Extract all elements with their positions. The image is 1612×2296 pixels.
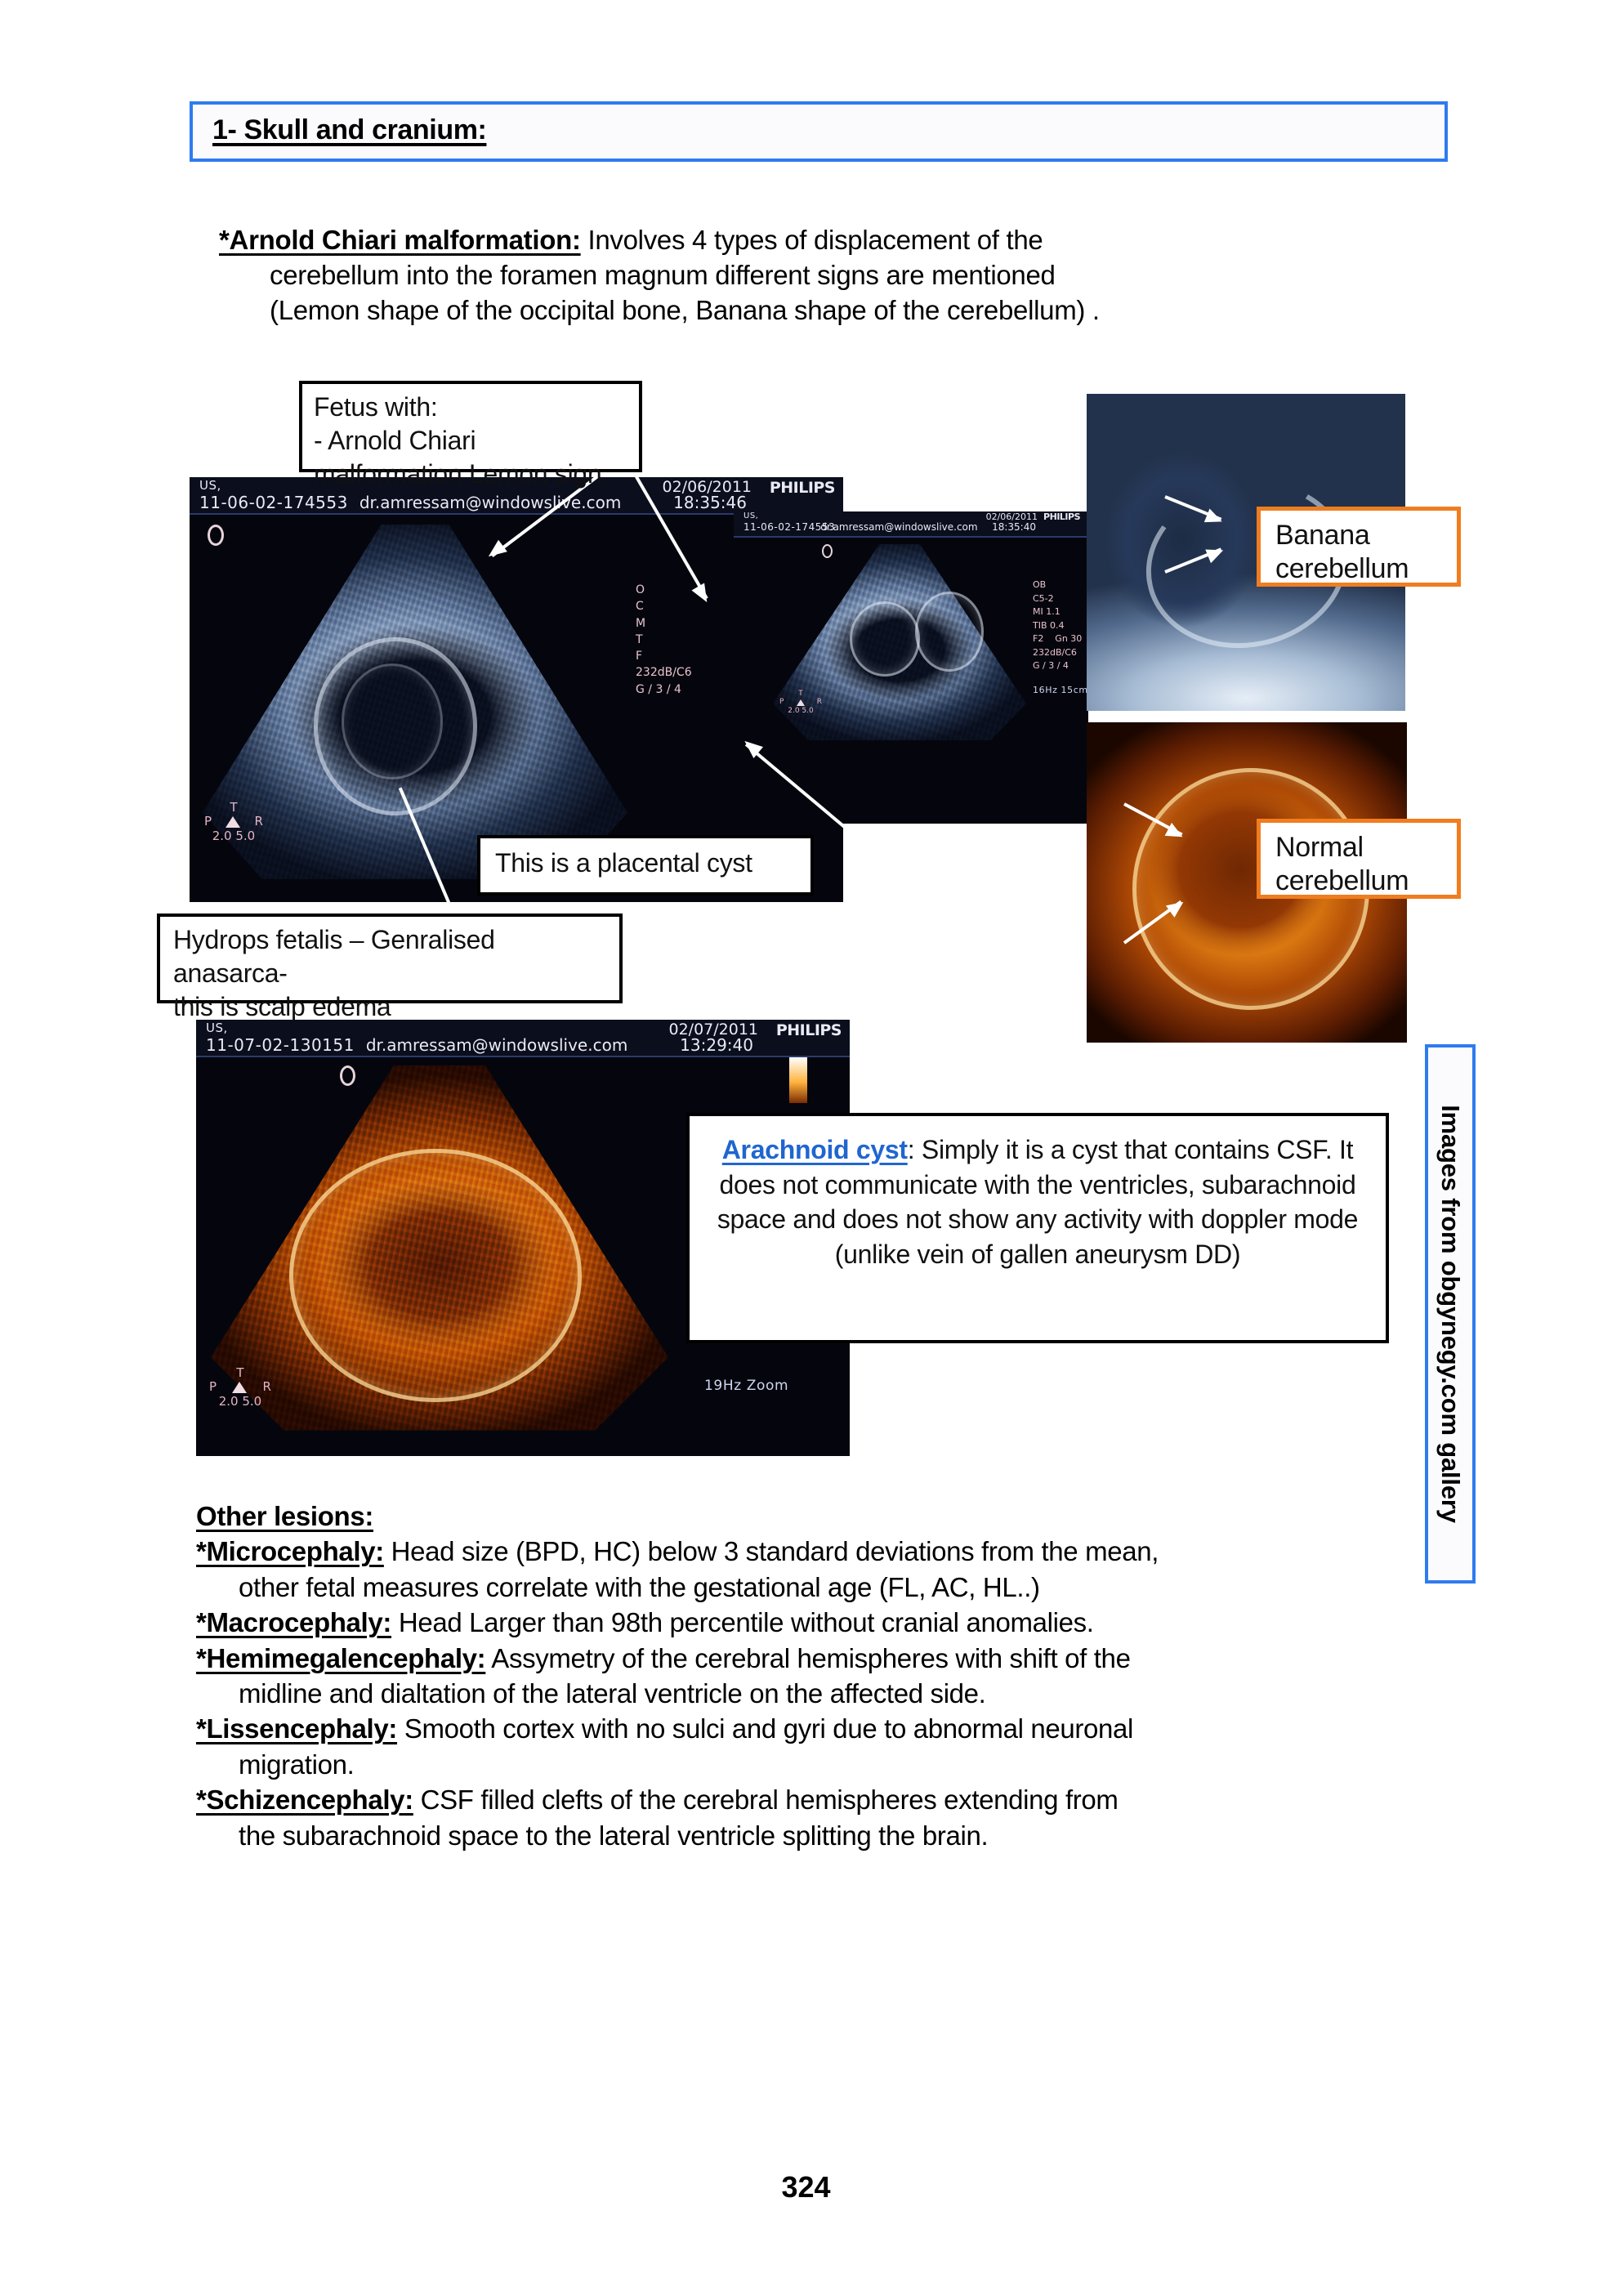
marker-top-label: T xyxy=(204,801,263,815)
inset-marker-values: 2.0 5.0 xyxy=(779,707,822,715)
source-credit-text: Images from obgynegy.com gallery xyxy=(1436,1105,1465,1523)
marker-right-label: R xyxy=(255,815,263,829)
colormap-bar xyxy=(789,1057,807,1103)
marker-triangle-icon xyxy=(226,816,240,828)
lesion-continuation: migration. xyxy=(196,1747,1356,1782)
ultrasound-main-side-panel: O C M T F 232dB/C6 G / 3 / 4 xyxy=(636,582,692,698)
page-title: 1- Skull and cranium: xyxy=(212,114,486,146)
ultrasound-inset-modality: US, xyxy=(743,511,758,520)
lesion-term: *Hemimegalencephaly: xyxy=(196,1643,485,1673)
inset-marker-left-label: P xyxy=(779,698,784,706)
ultrasound-lower-brand: PHILIPS xyxy=(776,1021,842,1039)
lower-orientation-dot xyxy=(340,1065,355,1086)
ultrasound-lower-footer: 19Hz Zoom xyxy=(704,1378,788,1394)
lesion-item: *Macrocephaly: Head Larger than 98th per… xyxy=(196,1605,1356,1640)
lesion-term: *Macrocephaly: xyxy=(196,1607,391,1637)
ultrasound-main-orientation-marker: T P R 2.0 5.0 xyxy=(204,801,263,843)
callout-hydrops-line2: this is scalp edema xyxy=(173,990,606,1024)
source-credit-box: Images from obgynegy.com gallery xyxy=(1425,1044,1476,1584)
ultrasound-main-time: 18:35:46 xyxy=(673,493,747,512)
lower-marker-triangle-icon xyxy=(232,1382,247,1393)
callout-fetus-line1: Fetus with: xyxy=(314,391,627,424)
marker-left-label: P xyxy=(204,815,212,829)
callout-fetus: Fetus with: - Arnold Chiari malformation… xyxy=(299,381,642,472)
other-lesions-heading: Other lesions: xyxy=(196,1499,1356,1534)
lower-marker-left-label: P xyxy=(209,1380,217,1394)
callout-normal-line2: cerebellum xyxy=(1275,864,1442,898)
ultrasound-lower-header: US, 11-07-02-130151 dr.amressam@windowsl… xyxy=(196,1020,850,1057)
lesion-continuation: the subarachnoid space to the lateral ve… xyxy=(196,1818,1356,1853)
orientation-marker-dot xyxy=(208,525,224,546)
ultrasound-lower-orientation-marker: T P R 2.0 5.0 xyxy=(209,1366,271,1409)
intro-term: *Arnold Chiari malformation: xyxy=(219,225,581,255)
lesion-term: *Microcephaly: xyxy=(196,1536,384,1566)
callout-hydrops-fetalis: Hydrops fetalis – Genralised anasarca- t… xyxy=(157,913,623,1003)
inset-orientation-dot xyxy=(822,544,833,558)
inset-structure-outline-a xyxy=(850,601,920,677)
callout-banana-line1: Banana xyxy=(1275,519,1442,552)
ultrasound-lower-modality: US, xyxy=(206,1021,228,1035)
ultrasound-inset-header: US, 11-06-02-174553 dr.amressam@windowsl… xyxy=(734,511,1088,538)
callout-banana-cerebellum: Banana cerebellum xyxy=(1257,507,1461,587)
ultrasound-inset-email: dr.amressam@windowslive.com xyxy=(820,521,977,533)
ultrasound-inset-footer: 16Hz 15cm xyxy=(1033,685,1088,695)
ultrasound-lower-email: dr.amressam@windowslive.com xyxy=(366,1035,627,1055)
callout-arachnoid-cyst: Arachnoid cyst: Simply it is a cyst that… xyxy=(686,1113,1389,1343)
lesion-item: *Hemimegalencephaly: Assymetry of the ce… xyxy=(196,1641,1356,1712)
callout-normal-line1: Normal xyxy=(1275,831,1442,864)
marker-values: 2.0 5.0 xyxy=(204,829,263,843)
intro-paragraph: *Arnold Chiari malformation: Involves 4 … xyxy=(219,222,1265,328)
lesion-continuation: other fetal measures correlate with the … xyxy=(196,1570,1356,1605)
ultrasound-inset-brand: PHILIPS xyxy=(1043,511,1080,522)
intro-line1: Involves 4 types of displacement of the xyxy=(581,225,1043,255)
arachnoid-term: Arachnoid cyst xyxy=(722,1135,908,1164)
intro-line3: (Lemon shape of the occipital bone, Bana… xyxy=(219,293,1265,328)
lesion-item: *Microcephaly: Head size (BPD, HC) below… xyxy=(196,1534,1356,1605)
ultrasound-main-modality: US, xyxy=(199,478,221,493)
section-header-box: 1- Skull and cranium: xyxy=(190,101,1448,162)
lesion-term: *Lissencephaly: xyxy=(196,1713,397,1744)
lower-marker-top-label: T xyxy=(209,1366,271,1380)
inset-marker-triangle-icon xyxy=(797,699,805,706)
callout-hydrops-line1: Hydrops fetalis – Genralised anasarca- xyxy=(173,923,606,990)
inset-marker-right-label: R xyxy=(817,698,822,706)
callout-placental-cyst: This is a placental cyst xyxy=(477,835,814,896)
callout-banana-line2: cerebellum xyxy=(1275,552,1442,586)
lesion-term: *Schizencephaly: xyxy=(196,1785,413,1815)
fetal-brain-outline xyxy=(342,663,443,779)
other-lesions-block: Other lesions: *Microcephaly: Head size … xyxy=(196,1499,1356,1853)
ultrasound-main-email: dr.amressam@windowslive.com xyxy=(359,493,621,512)
ultrasound-main-brand: PHILIPS xyxy=(770,479,835,497)
ultrasound-inset-side-panel: OB C5-2 MI 1.1 TIB 0.4 F2 Gn 30 232dB/C6… xyxy=(1033,578,1082,673)
lower-marker-values: 2.0 5.0 xyxy=(209,1395,271,1409)
ultrasound-main-id: 11-06-02-174553 xyxy=(199,493,348,512)
lesion-item: *Lissencephaly: Smooth cortex with no su… xyxy=(196,1711,1356,1782)
ultrasound-lower-time: 13:29:40 xyxy=(680,1035,753,1055)
arachnoid-cyst-outline xyxy=(289,1149,582,1402)
callout-normal-cerebellum: Normal cerebellum xyxy=(1257,819,1461,899)
ultrasound-inset: US, 11-06-02-174553 dr.amressam@windowsl… xyxy=(734,511,1088,824)
lower-marker-right-label: R xyxy=(263,1380,271,1394)
ultrasound-lower-id: 11-07-02-130151 xyxy=(206,1035,355,1055)
lesion-body: Smooth cortex with no sulci and gyri due… xyxy=(397,1713,1133,1744)
ultrasound-inset-time: 18:35:40 xyxy=(992,521,1036,533)
lesion-item: *Schizencephaly: CSF filled clefts of th… xyxy=(196,1782,1356,1853)
ultrasound-inset-orientation-marker: T P R 2.0 5.0 xyxy=(779,690,822,715)
lesion-body: Head Larger than 98th percentile without… xyxy=(391,1607,1094,1637)
lesion-body: Head size (BPD, HC) below 3 standard dev… xyxy=(384,1536,1159,1566)
lesion-body: CSF filled clefts of the cerebral hemisp… xyxy=(413,1785,1119,1815)
page-number: 324 xyxy=(0,2170,1612,2204)
callout-fetus-line2: - Arnold Chiari malformation Lemon sign xyxy=(314,424,627,491)
intro-line2: cerebellum into the foramen magnum diffe… xyxy=(219,257,1265,293)
lesion-body: Assymetry of the cerebral hemispheres wi… xyxy=(485,1643,1130,1673)
document-page: 1- Skull and cranium: *Arnold Chiari mal… xyxy=(0,0,1612,2296)
lesion-continuation: midline and dialtation of the lateral ve… xyxy=(196,1676,1356,1711)
inset-structure-outline-b xyxy=(915,592,984,672)
inset-marker-top-label: T xyxy=(779,690,822,698)
